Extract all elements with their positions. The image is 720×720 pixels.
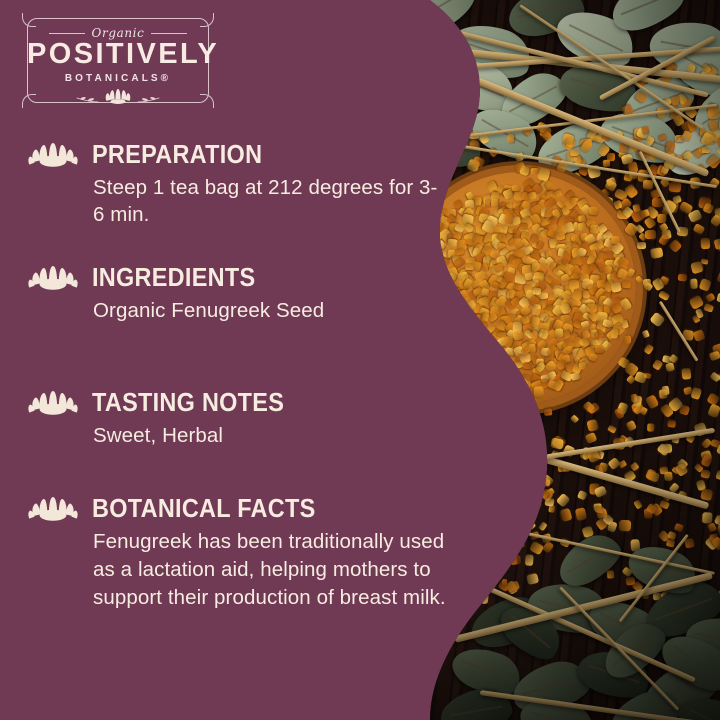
fenugreek-seed [504,386,516,398]
fenugreek-seed [495,381,508,394]
fenugreek-seed [508,381,516,390]
fenugreek-seed [439,332,451,343]
fenugreek-seed [412,235,422,244]
fenugreek-seed [435,327,445,339]
fenugreek-seed [505,488,514,498]
fenugreek-seed [402,125,413,136]
section-ingredients-header: INGREDIENTS [28,263,448,293]
section-preparation: PREPARATION Steep 1 tea bag at 212 degre… [28,140,448,229]
fenugreek-seed [487,356,501,370]
fenugreek-seed [305,241,319,254]
fenugreek-seed [380,330,390,339]
fenugreek-seed [430,340,441,352]
fenugreek-seed [457,346,471,358]
fenugreek-seed [415,246,426,257]
fenugreek-seed [350,376,364,389]
fenugreek-seed [498,357,509,367]
fenugreek-seed [507,453,514,461]
fenugreek-seed [503,448,515,459]
fenugreek-seed [495,457,505,468]
fenugreek-seed [309,250,319,260]
logo-ornament-row [27,86,209,104]
fenugreek-seed [488,434,497,443]
eucalyptus-leaf [295,0,376,46]
fenugreek-seed [492,524,505,536]
fenugreek-seed [379,326,393,340]
fenugreek-seed [334,360,349,373]
fenugreek-seed [308,345,323,360]
fenugreek-seed [457,329,468,341]
fenugreek-seed [473,456,486,467]
fenugreek-seed [364,252,373,263]
logo-rule-right [151,33,187,34]
fenugreek-seed [482,559,494,571]
fenugreek-seed [359,369,369,379]
fenugreek-seed [512,389,523,400]
eucalyptus-leaf [348,10,434,73]
fenugreek-seed [407,361,415,368]
fenugreek-seed [359,125,372,140]
fenugreek-seed [474,572,485,582]
fenugreek-seed [463,355,472,364]
fenugreek-seed [417,477,426,484]
fenugreek-seed [475,353,485,365]
fenugreek-seed [514,466,527,477]
fenugreek-seed [478,414,490,428]
fenugreek-seed [322,373,335,386]
fenugreek-seed [455,295,464,305]
fenugreek-seed [463,331,471,339]
fenugreek-seed [465,365,475,376]
fenugreek-seed [438,324,447,333]
fenugreek-seed [485,476,499,490]
fenugreek-seed [339,236,350,245]
section-botanical-facts-header: BOTANICAL FACTS [28,494,448,524]
fenugreek-seed [367,357,376,365]
fenugreek-seed [394,341,402,350]
fenugreek-seed [445,347,459,361]
fenugreek-seed [524,516,534,527]
fenugreek-seed [452,514,461,524]
logo-corner-top-right [200,13,214,27]
section-botanical-facts: BOTANICAL FACTS Fenugreek has been tradi… [28,494,448,612]
fenugreek-seed [369,331,378,341]
fenugreek-seed [464,346,475,358]
section-preparation-body: Steep 1 tea bag at 212 degrees for 3-6 m… [93,174,448,229]
fenugreek-seed [396,127,405,135]
fenugreek-seed [447,336,461,350]
fenugreek-seed [481,371,493,383]
fenugreek-seed [464,341,477,352]
section-tasting-notes-title: TASTING NOTES [92,389,284,418]
fenugreek-seed [481,344,492,355]
fenugreek-seed [459,447,471,459]
fenugreek-seed [451,320,461,329]
fenugreek-seed [459,325,468,335]
fenugreek-seed [525,510,537,522]
fenugreek-seed [492,454,501,463]
fenugreek-seed [423,232,433,240]
fenugreek-seed [445,362,456,373]
fenugreek-seed [524,511,534,521]
section-ingredients-body: Organic Fenugreek Seed [93,297,448,324]
fenugreek-seed [429,248,442,260]
fenugreek-seed [505,365,516,377]
fenugreek-seed [453,510,464,521]
fenugreek-seed [353,363,366,376]
fenugreek-seed [440,346,452,358]
fenugreek-seed [308,323,319,333]
fenugreek-seed [429,131,439,139]
logo-subtitle: BOTANICALS® [27,73,209,84]
fenugreek-seed [413,249,420,258]
logo-brand-name: POSITIVELY [27,40,209,69]
fenugreek-seed [504,480,516,491]
fenugreek-seed [384,246,398,260]
fenugreek-seed [487,371,499,383]
fenugreek-seed [474,587,483,595]
fenugreek-seed [425,241,435,252]
fenugreek-seed [411,481,425,494]
section-preparation-header: PREPARATION [28,140,448,170]
fenugreek-seed [313,369,327,382]
fenugreek-seed [466,314,477,325]
fenugreek-seed [469,371,481,383]
fenugreek-seed [517,399,531,412]
fenugreek-seed [376,340,386,350]
fenugreek-seed [481,353,493,367]
fenugreek-seed [496,370,507,381]
fenugreek-seed [481,360,493,372]
section-botanical-facts-body: Fenugreek has been traditionally used as… [93,528,448,612]
fenugreek-seed [497,473,508,484]
leaf-sprig-left-icon [73,95,99,104]
fenugreek-seed [486,378,500,392]
fenugreek-seed [470,338,480,347]
fenugreek-seed [456,355,470,368]
section-ingredients-title: INGREDIENTS [92,264,255,293]
fenugreek-seed [498,385,508,396]
eucalyptus-leaf [281,19,351,87]
fenugreek-seed [378,230,394,246]
fenugreek-seed [469,484,483,498]
fenugreek-seed [448,357,457,365]
section-preparation-title: PREPARATION [92,141,262,170]
fenugreek-seed [472,330,487,345]
fenugreek-seed [337,366,347,376]
fenugreek-seed [490,460,504,475]
fenugreek-seed [505,417,512,425]
fenugreek-seed [433,324,443,334]
fenugreek-seed [456,315,467,327]
fenugreek-seed [482,528,493,538]
fan-shell-icon [28,388,78,418]
fenugreek-seed [508,374,519,385]
eucalyptus-leaf [312,37,392,109]
fenugreek-seed [511,526,520,536]
fenugreek-seed [447,479,457,489]
fan-shell-icon [28,263,78,293]
fenugreek-seed [483,545,497,559]
fenugreek-seed [464,323,476,336]
fenugreek-seed [457,338,469,349]
fenugreek-seed [499,365,508,373]
fenugreek-seed [353,363,367,378]
fenugreek-seed [458,372,469,384]
fenugreek-seed [467,510,477,520]
fenugreek-seed [477,377,492,392]
fenugreek-seed [492,540,503,551]
fenugreek-seed [489,344,499,355]
fenugreek-seed [299,371,309,382]
fenugreek-seed [492,385,502,396]
fan-shell-ornament-icon [103,87,133,104]
fenugreek-seed [471,539,481,549]
section-tasting-notes-body: Sweet, Herbal [93,422,448,449]
fenugreek-seed [438,357,450,368]
fenugreek-seed [480,341,491,352]
fenugreek-seed [451,120,464,134]
logo-rule-left [49,33,85,34]
fenugreek-seed [461,505,471,516]
fenugreek-seed [453,454,461,462]
fenugreek-seed [438,341,452,355]
section-ingredients: INGREDIENTS Organic Fenugreek Seed [28,263,448,324]
fenugreek-seed [491,451,505,465]
brand-logo: Organic POSITIVELY BOTANICALS® [27,18,209,103]
fenugreek-seed [339,338,351,352]
fenugreek-seed [508,512,522,526]
section-tasting-notes-header: TASTING NOTES [28,388,448,418]
fenugreek-seed [452,461,462,471]
fenugreek-seed [461,370,474,382]
fenugreek-seed [489,403,501,413]
fenugreek-seed [473,363,484,375]
fenugreek-seed [507,417,518,430]
fenugreek-seed [474,421,487,434]
section-botanical-facts-title: BOTANICAL FACTS [92,495,316,524]
fenugreek-seed [432,463,444,474]
fenugreek-seed [465,453,476,463]
eucalyptus-leaf [373,61,456,124]
fenugreek-seed [412,252,423,264]
fenugreek-seed [532,463,546,478]
fan-shell-icon [28,140,78,170]
fenugreek-seed [487,365,498,376]
fenugreek-seed [497,471,508,481]
fenugreek-seed [454,426,469,440]
fenugreek-seed [515,514,521,521]
section-tasting-notes: TASTING NOTES Sweet, Herbal [28,388,448,449]
fenugreek-seed [454,407,464,417]
fenugreek-seed [449,330,459,341]
fenugreek-seed [433,349,446,361]
fenugreek-seed [349,241,364,256]
fenugreek-seed [422,329,435,342]
fenugreek-seed [503,526,513,537]
fenugreek-seed [454,363,465,374]
leaf-sprig-right-icon [137,95,163,104]
logo-corner-top-left [22,13,36,27]
fenugreek-seed [473,345,482,354]
fenugreek-seed [349,356,363,371]
fenugreek-seed [505,541,515,552]
fan-shell-icon [28,494,78,524]
fenugreek-seed [456,307,464,316]
fenugreek-seed [517,491,528,503]
fenugreek-seed [453,500,467,514]
product-info-panel: Organic POSITIVELY BOTANICALS® [0,0,720,720]
fenugreek-seed [423,249,436,262]
